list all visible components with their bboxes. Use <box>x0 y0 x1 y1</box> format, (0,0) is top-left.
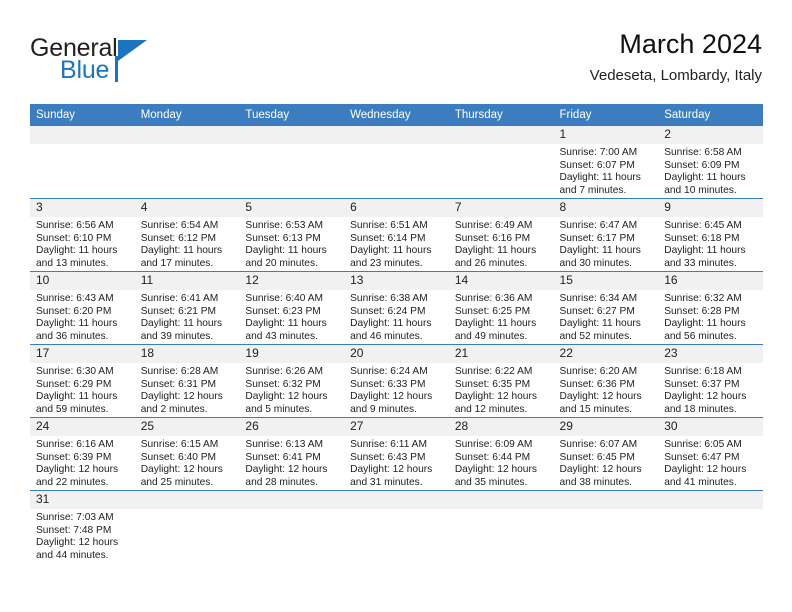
day-sun-info: Sunrise: 6:38 AMSunset: 6:24 PMDaylight:… <box>344 290 449 343</box>
weekday-header-saturday: Saturday <box>658 104 763 126</box>
empty-cell-inner <box>239 491 344 563</box>
daylight-duration-line2: and 10 minutes. <box>664 185 759 198</box>
sunset-time: Sunset: 6:23 PM <box>245 306 340 319</box>
sunrise-time: Sunrise: 7:03 AM <box>36 512 131 525</box>
calendar-cell-empty <box>135 126 240 199</box>
day-sun-info: Sunrise: 7:00 AMSunset: 6:07 PMDaylight:… <box>554 144 659 197</box>
day-cell-inner: 12Sunrise: 6:40 AMSunset: 6:23 PMDayligh… <box>239 272 344 344</box>
day-number: 26 <box>239 418 344 436</box>
day-cell-inner: 18Sunrise: 6:28 AMSunset: 6:31 PMDayligh… <box>135 345 240 417</box>
weekday-header-wednesday: Wednesday <box>344 104 449 126</box>
day-number: 13 <box>344 272 449 290</box>
daylight-duration-line2: and 25 minutes. <box>141 477 236 490</box>
sunset-time: Sunset: 6:37 PM <box>664 379 759 392</box>
day-number: 9 <box>658 199 763 217</box>
brand-logo[interactable]: General Blue <box>30 34 220 90</box>
sunrise-time: Sunrise: 6:54 AM <box>141 220 236 233</box>
day-number: 2 <box>658 126 763 144</box>
sunset-time: Sunset: 6:47 PM <box>664 452 759 465</box>
sunrise-time: Sunrise: 6:38 AM <box>350 293 445 306</box>
daylight-duration-line1: Daylight: 11 hours <box>245 245 340 258</box>
day-number: 3 <box>30 199 135 217</box>
daylight-duration-line1: Daylight: 12 hours <box>350 464 445 477</box>
day-cell-inner: 1Sunrise: 7:00 AMSunset: 6:07 PMDaylight… <box>554 126 659 198</box>
daylight-duration-line2: and 59 minutes. <box>36 404 131 417</box>
daylight-duration-line1: Daylight: 11 hours <box>36 318 131 331</box>
sunset-time: Sunset: 6:07 PM <box>560 160 655 173</box>
day-number: 21 <box>449 345 554 363</box>
daylight-duration-line1: Daylight: 12 hours <box>455 464 550 477</box>
sunrise-time: Sunrise: 6:36 AM <box>455 293 550 306</box>
calendar-day-cell[interactable]: 23Sunrise: 6:18 AMSunset: 6:37 PMDayligh… <box>658 345 763 418</box>
day-cell-inner: 28Sunrise: 6:09 AMSunset: 6:44 PMDayligh… <box>449 418 554 490</box>
daylight-duration-line2: and 15 minutes. <box>560 404 655 417</box>
day-sun-info: Sunrise: 6:11 AMSunset: 6:43 PMDaylight:… <box>344 436 449 489</box>
day-number-band <box>239 491 344 509</box>
sunrise-time: Sunrise: 7:00 AM <box>560 147 655 160</box>
day-cell-inner: 19Sunrise: 6:26 AMSunset: 6:32 PMDayligh… <box>239 345 344 417</box>
day-number-band <box>554 491 659 509</box>
triangle-flag-icon <box>118 40 147 61</box>
daylight-duration-line1: Daylight: 12 hours <box>664 391 759 404</box>
daylight-duration-line1: Daylight: 11 hours <box>350 245 445 258</box>
daylight-duration-line1: Daylight: 11 hours <box>350 318 445 331</box>
calendar-day-cell[interactable]: 10Sunrise: 6:43 AMSunset: 6:20 PMDayligh… <box>30 272 135 345</box>
day-number-band <box>239 126 344 144</box>
calendar-week-row: 24Sunrise: 6:16 AMSunset: 6:39 PMDayligh… <box>30 418 763 491</box>
sunrise-time: Sunrise: 6:34 AM <box>560 293 655 306</box>
daylight-duration-line2: and 35 minutes. <box>455 477 550 490</box>
calendar-cell-empty <box>658 491 763 564</box>
calendar-day-cell[interactable]: 16Sunrise: 6:32 AMSunset: 6:28 PMDayligh… <box>658 272 763 345</box>
daylight-duration-line1: Daylight: 12 hours <box>560 391 655 404</box>
daylight-duration-line2: and 23 minutes. <box>350 258 445 271</box>
daylight-duration-line2: and 26 minutes. <box>455 258 550 271</box>
day-sun-info: Sunrise: 6:05 AMSunset: 6:47 PMDaylight:… <box>658 436 763 489</box>
calendar-day-cell[interactable]: 13Sunrise: 6:38 AMSunset: 6:24 PMDayligh… <box>344 272 449 345</box>
daylight-duration-line2: and 2 minutes. <box>141 404 236 417</box>
day-number: 15 <box>554 272 659 290</box>
day-sun-info: Sunrise: 7:03 AMSunset: 7:48 PMDaylight:… <box>30 509 135 562</box>
daylight-duration-line1: Daylight: 11 hours <box>664 172 759 185</box>
calendar-cell-empty <box>344 126 449 199</box>
daylight-duration-line1: Daylight: 12 hours <box>36 537 131 550</box>
page-title: March 2024 <box>590 28 762 60</box>
daylight-duration-line2: and 44 minutes. <box>36 550 131 563</box>
weekday-header-tuesday: Tuesday <box>239 104 344 126</box>
daylight-duration-line2: and 49 minutes. <box>455 331 550 344</box>
calendar-week-row: 31Sunrise: 7:03 AMSunset: 7:48 PMDayligh… <box>30 491 763 564</box>
day-number: 4 <box>135 199 240 217</box>
calendar-day-cell[interactable]: 14Sunrise: 6:36 AMSunset: 6:25 PMDayligh… <box>449 272 554 345</box>
title-block: March 2024 Vedeseta, Lombardy, Italy <box>590 28 762 87</box>
empty-cell-inner <box>135 126 240 198</box>
daylight-duration-line1: Daylight: 12 hours <box>245 391 340 404</box>
sunrise-time: Sunrise: 6:11 AM <box>350 439 445 452</box>
day-cell-inner: 6Sunrise: 6:51 AMSunset: 6:14 PMDaylight… <box>344 199 449 271</box>
day-sun-info: Sunrise: 6:13 AMSunset: 6:41 PMDaylight:… <box>239 436 344 489</box>
day-number: 29 <box>554 418 659 436</box>
empty-cell-inner <box>30 126 135 198</box>
sunrise-time: Sunrise: 6:41 AM <box>141 293 236 306</box>
day-sun-info: Sunrise: 6:20 AMSunset: 6:36 PMDaylight:… <box>554 363 659 416</box>
sunrise-time: Sunrise: 6:49 AM <box>455 220 550 233</box>
sunset-time: Sunset: 6:33 PM <box>350 379 445 392</box>
daylight-duration-line2: and 36 minutes. <box>36 331 131 344</box>
calendar-day-cell[interactable]: 24Sunrise: 6:16 AMSunset: 6:39 PMDayligh… <box>30 418 135 491</box>
day-sun-info: Sunrise: 6:30 AMSunset: 6:29 PMDaylight:… <box>30 363 135 416</box>
daylight-duration-line2: and 46 minutes. <box>350 331 445 344</box>
calendar-day-cell[interactable]: 29Sunrise: 6:07 AMSunset: 6:45 PMDayligh… <box>554 418 659 491</box>
daylight-duration-line2: and 28 minutes. <box>245 477 340 490</box>
sunset-time: Sunset: 6:40 PM <box>141 452 236 465</box>
day-cell-inner: 17Sunrise: 6:30 AMSunset: 6:29 PMDayligh… <box>30 345 135 417</box>
calendar-cell-empty <box>239 491 344 564</box>
day-number-band <box>449 126 554 144</box>
day-sun-info: Sunrise: 6:18 AMSunset: 6:37 PMDaylight:… <box>658 363 763 416</box>
calendar-week-row: 10Sunrise: 6:43 AMSunset: 6:20 PMDayligh… <box>30 272 763 345</box>
calendar-day-cell[interactable]: 11Sunrise: 6:41 AMSunset: 6:21 PMDayligh… <box>135 272 240 345</box>
day-number: 1 <box>554 126 659 144</box>
daylight-duration-line2: and 33 minutes. <box>664 258 759 271</box>
daylight-duration-line2: and 43 minutes. <box>245 331 340 344</box>
sunset-time: Sunset: 6:27 PM <box>560 306 655 319</box>
day-cell-inner: 21Sunrise: 6:22 AMSunset: 6:35 PMDayligh… <box>449 345 554 417</box>
sunset-time: Sunset: 6:29 PM <box>36 379 131 392</box>
sunrise-time: Sunrise: 6:16 AM <box>36 439 131 452</box>
day-cell-inner: 31Sunrise: 7:03 AMSunset: 7:48 PMDayligh… <box>30 491 135 563</box>
calendar-day-cell[interactable]: 20Sunrise: 6:24 AMSunset: 6:33 PMDayligh… <box>344 345 449 418</box>
day-number: 19 <box>239 345 344 363</box>
calendar-day-cell[interactable]: 21Sunrise: 6:22 AMSunset: 6:35 PMDayligh… <box>449 345 554 418</box>
sunrise-time: Sunrise: 6:58 AM <box>664 147 759 160</box>
brand-name-blue: Blue <box>60 56 109 85</box>
sunset-time: Sunset: 6:21 PM <box>141 306 236 319</box>
daylight-duration-line1: Daylight: 12 hours <box>245 464 340 477</box>
day-number: 20 <box>344 345 449 363</box>
day-number: 7 <box>449 199 554 217</box>
day-cell-inner: 4Sunrise: 6:54 AMSunset: 6:12 PMDaylight… <box>135 199 240 271</box>
day-number: 23 <box>658 345 763 363</box>
calendar-day-cell[interactable]: 30Sunrise: 6:05 AMSunset: 6:47 PMDayligh… <box>658 418 763 491</box>
calendar-cell-empty <box>135 491 240 564</box>
empty-cell-inner <box>449 491 554 563</box>
calendar-day-cell[interactable]: 2Sunrise: 6:58 AMSunset: 6:09 PMDaylight… <box>658 126 763 199</box>
daylight-duration-line2: and 31 minutes. <box>350 477 445 490</box>
daylight-duration-line2: and 30 minutes. <box>560 258 655 271</box>
day-number: 22 <box>554 345 659 363</box>
day-cell-inner: 5Sunrise: 6:53 AMSunset: 6:13 PMDaylight… <box>239 199 344 271</box>
calendar-day-cell[interactable]: 9Sunrise: 6:45 AMSunset: 6:18 PMDaylight… <box>658 199 763 272</box>
sunset-time: Sunset: 6:09 PM <box>664 160 759 173</box>
day-sun-info: Sunrise: 6:51 AMSunset: 6:14 PMDaylight:… <box>344 217 449 270</box>
day-number: 18 <box>135 345 240 363</box>
sunrise-time: Sunrise: 6:40 AM <box>245 293 340 306</box>
day-number-band <box>30 126 135 144</box>
day-sun-info: Sunrise: 6:43 AMSunset: 6:20 PMDaylight:… <box>30 290 135 343</box>
day-sun-info: Sunrise: 6:56 AMSunset: 6:10 PMDaylight:… <box>30 217 135 270</box>
day-number: 31 <box>30 491 135 509</box>
daylight-duration-line1: Daylight: 11 hours <box>141 318 236 331</box>
daylight-duration-line1: Daylight: 11 hours <box>455 245 550 258</box>
sunset-time: Sunset: 7:48 PM <box>36 525 131 538</box>
daylight-duration-line2: and 52 minutes. <box>560 331 655 344</box>
day-cell-inner: 22Sunrise: 6:20 AMSunset: 6:36 PMDayligh… <box>554 345 659 417</box>
sunset-time: Sunset: 6:16 PM <box>455 233 550 246</box>
empty-cell-inner <box>554 491 659 563</box>
calendar-cell-empty <box>30 126 135 199</box>
day-sun-info: Sunrise: 6:15 AMSunset: 6:40 PMDaylight:… <box>135 436 240 489</box>
day-number-band <box>449 491 554 509</box>
day-sun-info: Sunrise: 6:24 AMSunset: 6:33 PMDaylight:… <box>344 363 449 416</box>
daylight-duration-line2: and 41 minutes. <box>664 477 759 490</box>
daylight-duration-line1: Daylight: 11 hours <box>245 318 340 331</box>
day-cell-inner: 8Sunrise: 6:47 AMSunset: 6:17 PMDaylight… <box>554 199 659 271</box>
day-number: 27 <box>344 418 449 436</box>
daylight-duration-line2: and 22 minutes. <box>36 477 131 490</box>
sunrise-time: Sunrise: 6:53 AM <box>245 220 340 233</box>
calendar-day-cell[interactable]: 1Sunrise: 7:00 AMSunset: 6:07 PMDaylight… <box>554 126 659 199</box>
day-number: 14 <box>449 272 554 290</box>
day-sun-info: Sunrise: 6:53 AMSunset: 6:13 PMDaylight:… <box>239 217 344 270</box>
calendar-day-cell[interactable]: 15Sunrise: 6:34 AMSunset: 6:27 PMDayligh… <box>554 272 659 345</box>
day-number: 24 <box>30 418 135 436</box>
daylight-duration-line1: Daylight: 12 hours <box>36 464 131 477</box>
sunrise-time: Sunrise: 6:13 AM <box>245 439 340 452</box>
day-cell-inner: 20Sunrise: 6:24 AMSunset: 6:33 PMDayligh… <box>344 345 449 417</box>
day-number: 30 <box>658 418 763 436</box>
empty-cell-inner <box>135 491 240 563</box>
empty-cell-inner <box>449 126 554 198</box>
calendar-day-cell[interactable]: 28Sunrise: 6:09 AMSunset: 6:44 PMDayligh… <box>449 418 554 491</box>
day-sun-info: Sunrise: 6:32 AMSunset: 6:28 PMDaylight:… <box>658 290 763 343</box>
sunrise-time: Sunrise: 6:15 AM <box>141 439 236 452</box>
daylight-duration-line1: Daylight: 12 hours <box>455 391 550 404</box>
daylight-duration-line2: and 12 minutes. <box>455 404 550 417</box>
calendar-day-cell[interactable]: 25Sunrise: 6:15 AMSunset: 6:40 PMDayligh… <box>135 418 240 491</box>
day-sun-info: Sunrise: 6:16 AMSunset: 6:39 PMDaylight:… <box>30 436 135 489</box>
calendar-day-cell[interactable]: 22Sunrise: 6:20 AMSunset: 6:36 PMDayligh… <box>554 345 659 418</box>
page-subtitle: Vedeseta, Lombardy, Italy <box>590 65 762 87</box>
daylight-duration-line1: Daylight: 11 hours <box>141 245 236 258</box>
sunset-time: Sunset: 6:18 PM <box>664 233 759 246</box>
sunrise-time: Sunrise: 6:45 AM <box>664 220 759 233</box>
day-sun-info: Sunrise: 6:34 AMSunset: 6:27 PMDaylight:… <box>554 290 659 343</box>
weekday-header-sunday: Sunday <box>30 104 135 126</box>
sunset-time: Sunset: 6:24 PM <box>350 306 445 319</box>
sunrise-time: Sunrise: 6:20 AM <box>560 366 655 379</box>
day-number: 16 <box>658 272 763 290</box>
daylight-duration-line2: and 38 minutes. <box>560 477 655 490</box>
sunset-time: Sunset: 6:43 PM <box>350 452 445 465</box>
calendar-day-cell[interactable]: 26Sunrise: 6:13 AMSunset: 6:41 PMDayligh… <box>239 418 344 491</box>
day-sun-info: Sunrise: 6:40 AMSunset: 6:23 PMDaylight:… <box>239 290 344 343</box>
calendar-day-cell[interactable]: 27Sunrise: 6:11 AMSunset: 6:43 PMDayligh… <box>344 418 449 491</box>
calendar-cell-empty <box>449 126 554 199</box>
day-cell-inner: 3Sunrise: 6:56 AMSunset: 6:10 PMDaylight… <box>30 199 135 271</box>
day-number: 8 <box>554 199 659 217</box>
weekday-header-monday: Monday <box>135 104 240 126</box>
sunset-time: Sunset: 6:36 PM <box>560 379 655 392</box>
calendar-day-cell[interactable]: 4Sunrise: 6:54 AMSunset: 6:12 PMDaylight… <box>135 199 240 272</box>
daylight-duration-line1: Daylight: 11 hours <box>36 391 131 404</box>
sunrise-time: Sunrise: 6:32 AM <box>664 293 759 306</box>
day-number-band <box>658 491 763 509</box>
day-cell-inner: 29Sunrise: 6:07 AMSunset: 6:45 PMDayligh… <box>554 418 659 490</box>
calendar-body: 1Sunrise: 7:00 AMSunset: 6:07 PMDaylight… <box>30 126 763 563</box>
sunset-time: Sunset: 6:44 PM <box>455 452 550 465</box>
daylight-duration-line2: and 9 minutes. <box>350 404 445 417</box>
day-cell-inner: 24Sunrise: 6:16 AMSunset: 6:39 PMDayligh… <box>30 418 135 490</box>
sunrise-time: Sunrise: 6:43 AM <box>36 293 131 306</box>
calendar-week-row: 3Sunrise: 6:56 AMSunset: 6:10 PMDaylight… <box>30 199 763 272</box>
day-cell-inner: 7Sunrise: 6:49 AMSunset: 6:16 PMDaylight… <box>449 199 554 271</box>
calendar-day-cell[interactable]: 18Sunrise: 6:28 AMSunset: 6:31 PMDayligh… <box>135 345 240 418</box>
daylight-duration-line1: Daylight: 11 hours <box>560 245 655 258</box>
sunset-time: Sunset: 6:35 PM <box>455 379 550 392</box>
day-cell-inner: 13Sunrise: 6:38 AMSunset: 6:24 PMDayligh… <box>344 272 449 344</box>
sunset-time: Sunset: 6:17 PM <box>560 233 655 246</box>
day-sun-info: Sunrise: 6:41 AMSunset: 6:21 PMDaylight:… <box>135 290 240 343</box>
day-sun-info: Sunrise: 6:07 AMSunset: 6:45 PMDaylight:… <box>554 436 659 489</box>
calendar-day-cell[interactable]: 17Sunrise: 6:30 AMSunset: 6:29 PMDayligh… <box>30 345 135 418</box>
day-cell-inner: 11Sunrise: 6:41 AMSunset: 6:21 PMDayligh… <box>135 272 240 344</box>
sunrise-time: Sunrise: 6:09 AM <box>455 439 550 452</box>
sunrise-time: Sunrise: 6:26 AM <box>245 366 340 379</box>
day-cell-inner: 26Sunrise: 6:13 AMSunset: 6:41 PMDayligh… <box>239 418 344 490</box>
day-number: 17 <box>30 345 135 363</box>
daylight-duration-line2: and 18 minutes. <box>664 404 759 417</box>
daylight-duration-line2: and 5 minutes. <box>245 404 340 417</box>
flag-pole-icon <box>115 56 118 82</box>
day-cell-inner: 27Sunrise: 6:11 AMSunset: 6:43 PMDayligh… <box>344 418 449 490</box>
calendar-day-cell[interactable]: 7Sunrise: 6:49 AMSunset: 6:16 PMDaylight… <box>449 199 554 272</box>
calendar-day-cell[interactable]: 6Sunrise: 6:51 AMSunset: 6:14 PMDaylight… <box>344 199 449 272</box>
daylight-duration-line1: Daylight: 12 hours <box>560 464 655 477</box>
day-number-band <box>344 491 449 509</box>
calendar-day-cell[interactable]: 31Sunrise: 7:03 AMSunset: 7:48 PMDayligh… <box>30 491 135 564</box>
sunset-time: Sunset: 6:14 PM <box>350 233 445 246</box>
sunset-time: Sunset: 6:13 PM <box>245 233 340 246</box>
day-sun-info: Sunrise: 6:58 AMSunset: 6:09 PMDaylight:… <box>658 144 763 197</box>
daylight-duration-line1: Daylight: 11 hours <box>560 172 655 185</box>
daylight-duration-line2: and 39 minutes. <box>141 331 236 344</box>
sunrise-time: Sunrise: 6:07 AM <box>560 439 655 452</box>
sunset-time: Sunset: 6:12 PM <box>141 233 236 246</box>
sunrise-time: Sunrise: 6:30 AM <box>36 366 131 379</box>
sunrise-time: Sunrise: 6:56 AM <box>36 220 131 233</box>
calendar-week-row: 17Sunrise: 6:30 AMSunset: 6:29 PMDayligh… <box>30 345 763 418</box>
calendar-day-cell[interactable]: 8Sunrise: 6:47 AMSunset: 6:17 PMDaylight… <box>554 199 659 272</box>
day-number-band <box>344 126 449 144</box>
sunset-time: Sunset: 6:25 PM <box>455 306 550 319</box>
daylight-duration-line2: and 20 minutes. <box>245 258 340 271</box>
day-cell-inner: 9Sunrise: 6:45 AMSunset: 6:18 PMDaylight… <box>658 199 763 271</box>
daylight-duration-line1: Daylight: 11 hours <box>36 245 131 258</box>
day-sun-info: Sunrise: 6:22 AMSunset: 6:35 PMDaylight:… <box>449 363 554 416</box>
day-number: 12 <box>239 272 344 290</box>
day-number: 28 <box>449 418 554 436</box>
calendar-cell-empty <box>239 126 344 199</box>
page-header: General Blue March 2024 Vedeseta, Lombar… <box>30 28 762 94</box>
day-sun-info: Sunrise: 6:36 AMSunset: 6:25 PMDaylight:… <box>449 290 554 343</box>
sunrise-time: Sunrise: 6:51 AM <box>350 220 445 233</box>
day-sun-info: Sunrise: 6:47 AMSunset: 6:17 PMDaylight:… <box>554 217 659 270</box>
sunset-time: Sunset: 6:32 PM <box>245 379 340 392</box>
calendar-day-cell[interactable]: 19Sunrise: 6:26 AMSunset: 6:32 PMDayligh… <box>239 345 344 418</box>
sunset-time: Sunset: 6:45 PM <box>560 452 655 465</box>
weekday-header-thursday: Thursday <box>449 104 554 126</box>
sunset-time: Sunset: 6:41 PM <box>245 452 340 465</box>
sunset-time: Sunset: 6:28 PM <box>664 306 759 319</box>
day-number: 25 <box>135 418 240 436</box>
daylight-duration-line1: Daylight: 11 hours <box>455 318 550 331</box>
sunset-time: Sunset: 6:20 PM <box>36 306 131 319</box>
calendar-day-cell[interactable]: 12Sunrise: 6:40 AMSunset: 6:23 PMDayligh… <box>239 272 344 345</box>
day-cell-inner: 10Sunrise: 6:43 AMSunset: 6:20 PMDayligh… <box>30 272 135 344</box>
calendar-day-cell[interactable]: 3Sunrise: 6:56 AMSunset: 6:10 PMDaylight… <box>30 199 135 272</box>
daylight-duration-line1: Daylight: 12 hours <box>350 391 445 404</box>
day-number: 5 <box>239 199 344 217</box>
day-cell-inner: 15Sunrise: 6:34 AMSunset: 6:27 PMDayligh… <box>554 272 659 344</box>
sunrise-time: Sunrise: 6:47 AM <box>560 220 655 233</box>
day-sun-info: Sunrise: 6:09 AMSunset: 6:44 PMDaylight:… <box>449 436 554 489</box>
day-number-band <box>135 126 240 144</box>
weekday-header-friday: Friday <box>554 104 659 126</box>
sunrise-time: Sunrise: 6:28 AM <box>141 366 236 379</box>
daylight-duration-line1: Daylight: 12 hours <box>664 464 759 477</box>
sunrise-time: Sunrise: 6:05 AM <box>664 439 759 452</box>
day-cell-inner: 14Sunrise: 6:36 AMSunset: 6:25 PMDayligh… <box>449 272 554 344</box>
daylight-duration-line1: Daylight: 11 hours <box>664 245 759 258</box>
daylight-duration-line1: Daylight: 11 hours <box>664 318 759 331</box>
sunset-time: Sunset: 6:31 PM <box>141 379 236 392</box>
calendar-cell-empty <box>344 491 449 564</box>
day-sun-info: Sunrise: 6:54 AMSunset: 6:12 PMDaylight:… <box>135 217 240 270</box>
sunset-time: Sunset: 6:39 PM <box>36 452 131 465</box>
sunrise-time: Sunrise: 6:22 AM <box>455 366 550 379</box>
daylight-duration-line1: Daylight: 11 hours <box>560 318 655 331</box>
daylight-duration-line2: and 13 minutes. <box>36 258 131 271</box>
calendar-cell-empty <box>449 491 554 564</box>
daylight-duration-line2: and 56 minutes. <box>664 331 759 344</box>
daylight-duration-line2: and 17 minutes. <box>141 258 236 271</box>
day-sun-info: Sunrise: 6:26 AMSunset: 6:32 PMDaylight:… <box>239 363 344 416</box>
daylight-duration-line1: Daylight: 12 hours <box>141 464 236 477</box>
sunset-time: Sunset: 6:10 PM <box>36 233 131 246</box>
day-number: 11 <box>135 272 240 290</box>
day-sun-info: Sunrise: 6:28 AMSunset: 6:31 PMDaylight:… <box>135 363 240 416</box>
day-sun-info: Sunrise: 6:45 AMSunset: 6:18 PMDaylight:… <box>658 217 763 270</box>
empty-cell-inner <box>344 126 449 198</box>
calendar-page: General Blue March 2024 Vedeseta, Lombar… <box>0 0 792 612</box>
day-cell-inner: 23Sunrise: 6:18 AMSunset: 6:37 PMDayligh… <box>658 345 763 417</box>
sunrise-sunset-calendar-table: Sunday Monday Tuesday Wednesday Thursday… <box>30 104 763 563</box>
day-number: 10 <box>30 272 135 290</box>
weekday-header-row: Sunday Monday Tuesday Wednesday Thursday… <box>30 104 763 126</box>
day-cell-inner: 2Sunrise: 6:58 AMSunset: 6:09 PMDaylight… <box>658 126 763 198</box>
day-sun-info: Sunrise: 6:49 AMSunset: 6:16 PMDaylight:… <box>449 217 554 270</box>
sunrise-time: Sunrise: 6:18 AM <box>664 366 759 379</box>
daylight-duration-line2: and 7 minutes. <box>560 185 655 198</box>
empty-cell-inner <box>658 491 763 563</box>
day-number: 6 <box>344 199 449 217</box>
empty-cell-inner <box>344 491 449 563</box>
empty-cell-inner <box>239 126 344 198</box>
calendar-cell-empty <box>554 491 659 564</box>
daylight-duration-line1: Daylight: 12 hours <box>141 391 236 404</box>
calendar-day-cell[interactable]: 5Sunrise: 6:53 AMSunset: 6:13 PMDaylight… <box>239 199 344 272</box>
